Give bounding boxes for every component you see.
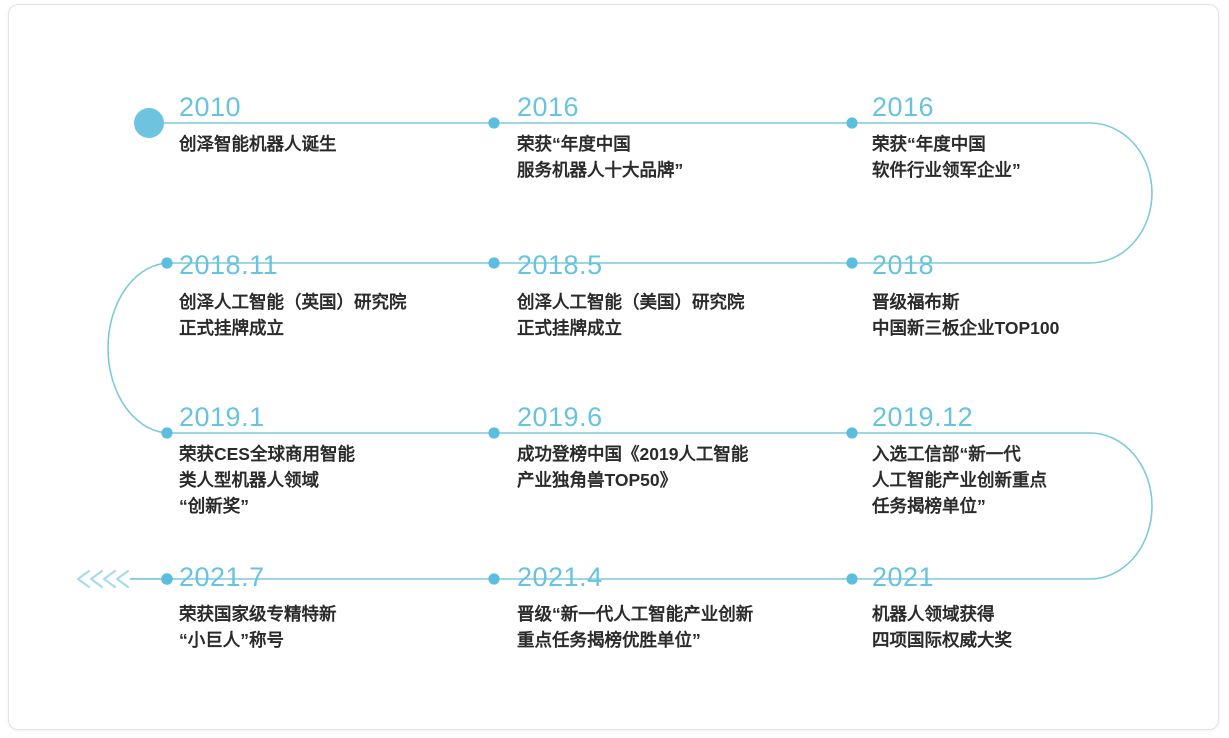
timeline-entry[interactable]: 2021.4 晋级“新一代人工智能产业创新 重点任务揭榜优胜单位” (517, 562, 847, 653)
entry-description: 荣获“年度中国 服务机器人十大品牌” (517, 131, 847, 183)
timeline-entry[interactable]: 2019.1 荣获CES全球商用智能 类人型机器人领域 “创新奖” (179, 402, 509, 519)
entry-description: 晋级福布斯 中国新三板企业TOP100 (872, 289, 1202, 341)
entry-description: 荣获CES全球商用智能 类人型机器人领域 “创新奖” (179, 441, 509, 519)
entry-description: 荣获国家级专精特新 “小巨人”称号 (179, 601, 509, 653)
timeline-entry[interactable]: 2018.11 创泽人工智能（英国）研究院 正式挂牌成立 (179, 250, 509, 341)
timeline-entry[interactable]: 2019.12 入选工信部“新一代 人工智能产业创新重点 任务揭榜单位” (872, 402, 1202, 519)
entry-description: 机器人领域获得 四项国际权威大奖 (872, 601, 1202, 653)
timeline-entry[interactable]: 2010 创泽智能机器人诞生 (179, 92, 509, 157)
timeline-entry[interactable]: 2021 机器人领域获得 四项国际权威大奖 (872, 562, 1202, 653)
entry-year: 2019.1 (179, 402, 509, 432)
timeline-entry[interactable]: 2018.5 创泽人工智能（美国）研究院 正式挂牌成立 (517, 250, 847, 341)
timeline-entry[interactable]: 2021.7 荣获国家级专精特新 “小巨人”称号 (179, 562, 509, 653)
timeline-entries: 2010 创泽智能机器人诞生 2016 荣获“年度中国 服务机器人十大品牌” 2… (0, 0, 1229, 738)
entry-year: 2016 (872, 92, 1202, 122)
entry-description: 荣获“年度中国 软件行业领军企业” (872, 131, 1202, 183)
entry-year: 2018.5 (517, 250, 847, 280)
entry-year: 2018 (872, 250, 1202, 280)
entry-year: 2021.7 (179, 562, 509, 592)
entry-year: 2010 (179, 92, 509, 122)
timeline-infographic: 2010 创泽智能机器人诞生 2016 荣获“年度中国 服务机器人十大品牌” 2… (0, 0, 1229, 738)
entry-year: 2021 (872, 562, 1202, 592)
timeline-entry[interactable]: 2018 晋级福布斯 中国新三板企业TOP100 (872, 250, 1202, 341)
entry-description: 晋级“新一代人工智能产业创新 重点任务揭榜优胜单位” (517, 601, 847, 653)
entry-description: 创泽智能机器人诞生 (179, 131, 509, 157)
timeline-entry[interactable]: 2019.6 成功登榜中国《2019人工智能 产业独角兽TOP50》 (517, 402, 847, 493)
entry-year: 2016 (517, 92, 847, 122)
entry-description: 创泽人工智能（英国）研究院 正式挂牌成立 (179, 289, 509, 341)
entry-description: 入选工信部“新一代 人工智能产业创新重点 任务揭榜单位” (872, 441, 1202, 519)
entry-description: 创泽人工智能（美国）研究院 正式挂牌成立 (517, 289, 847, 341)
timeline-entry[interactable]: 2016 荣获“年度中国 软件行业领军企业” (872, 92, 1202, 183)
entry-year: 2021.4 (517, 562, 847, 592)
entry-year: 2019.6 (517, 402, 847, 432)
timeline-entry[interactable]: 2016 荣获“年度中国 服务机器人十大品牌” (517, 92, 847, 183)
entry-description: 成功登榜中国《2019人工智能 产业独角兽TOP50》 (517, 441, 847, 493)
entry-year: 2019.12 (872, 402, 1202, 432)
entry-year: 2018.11 (179, 250, 509, 280)
